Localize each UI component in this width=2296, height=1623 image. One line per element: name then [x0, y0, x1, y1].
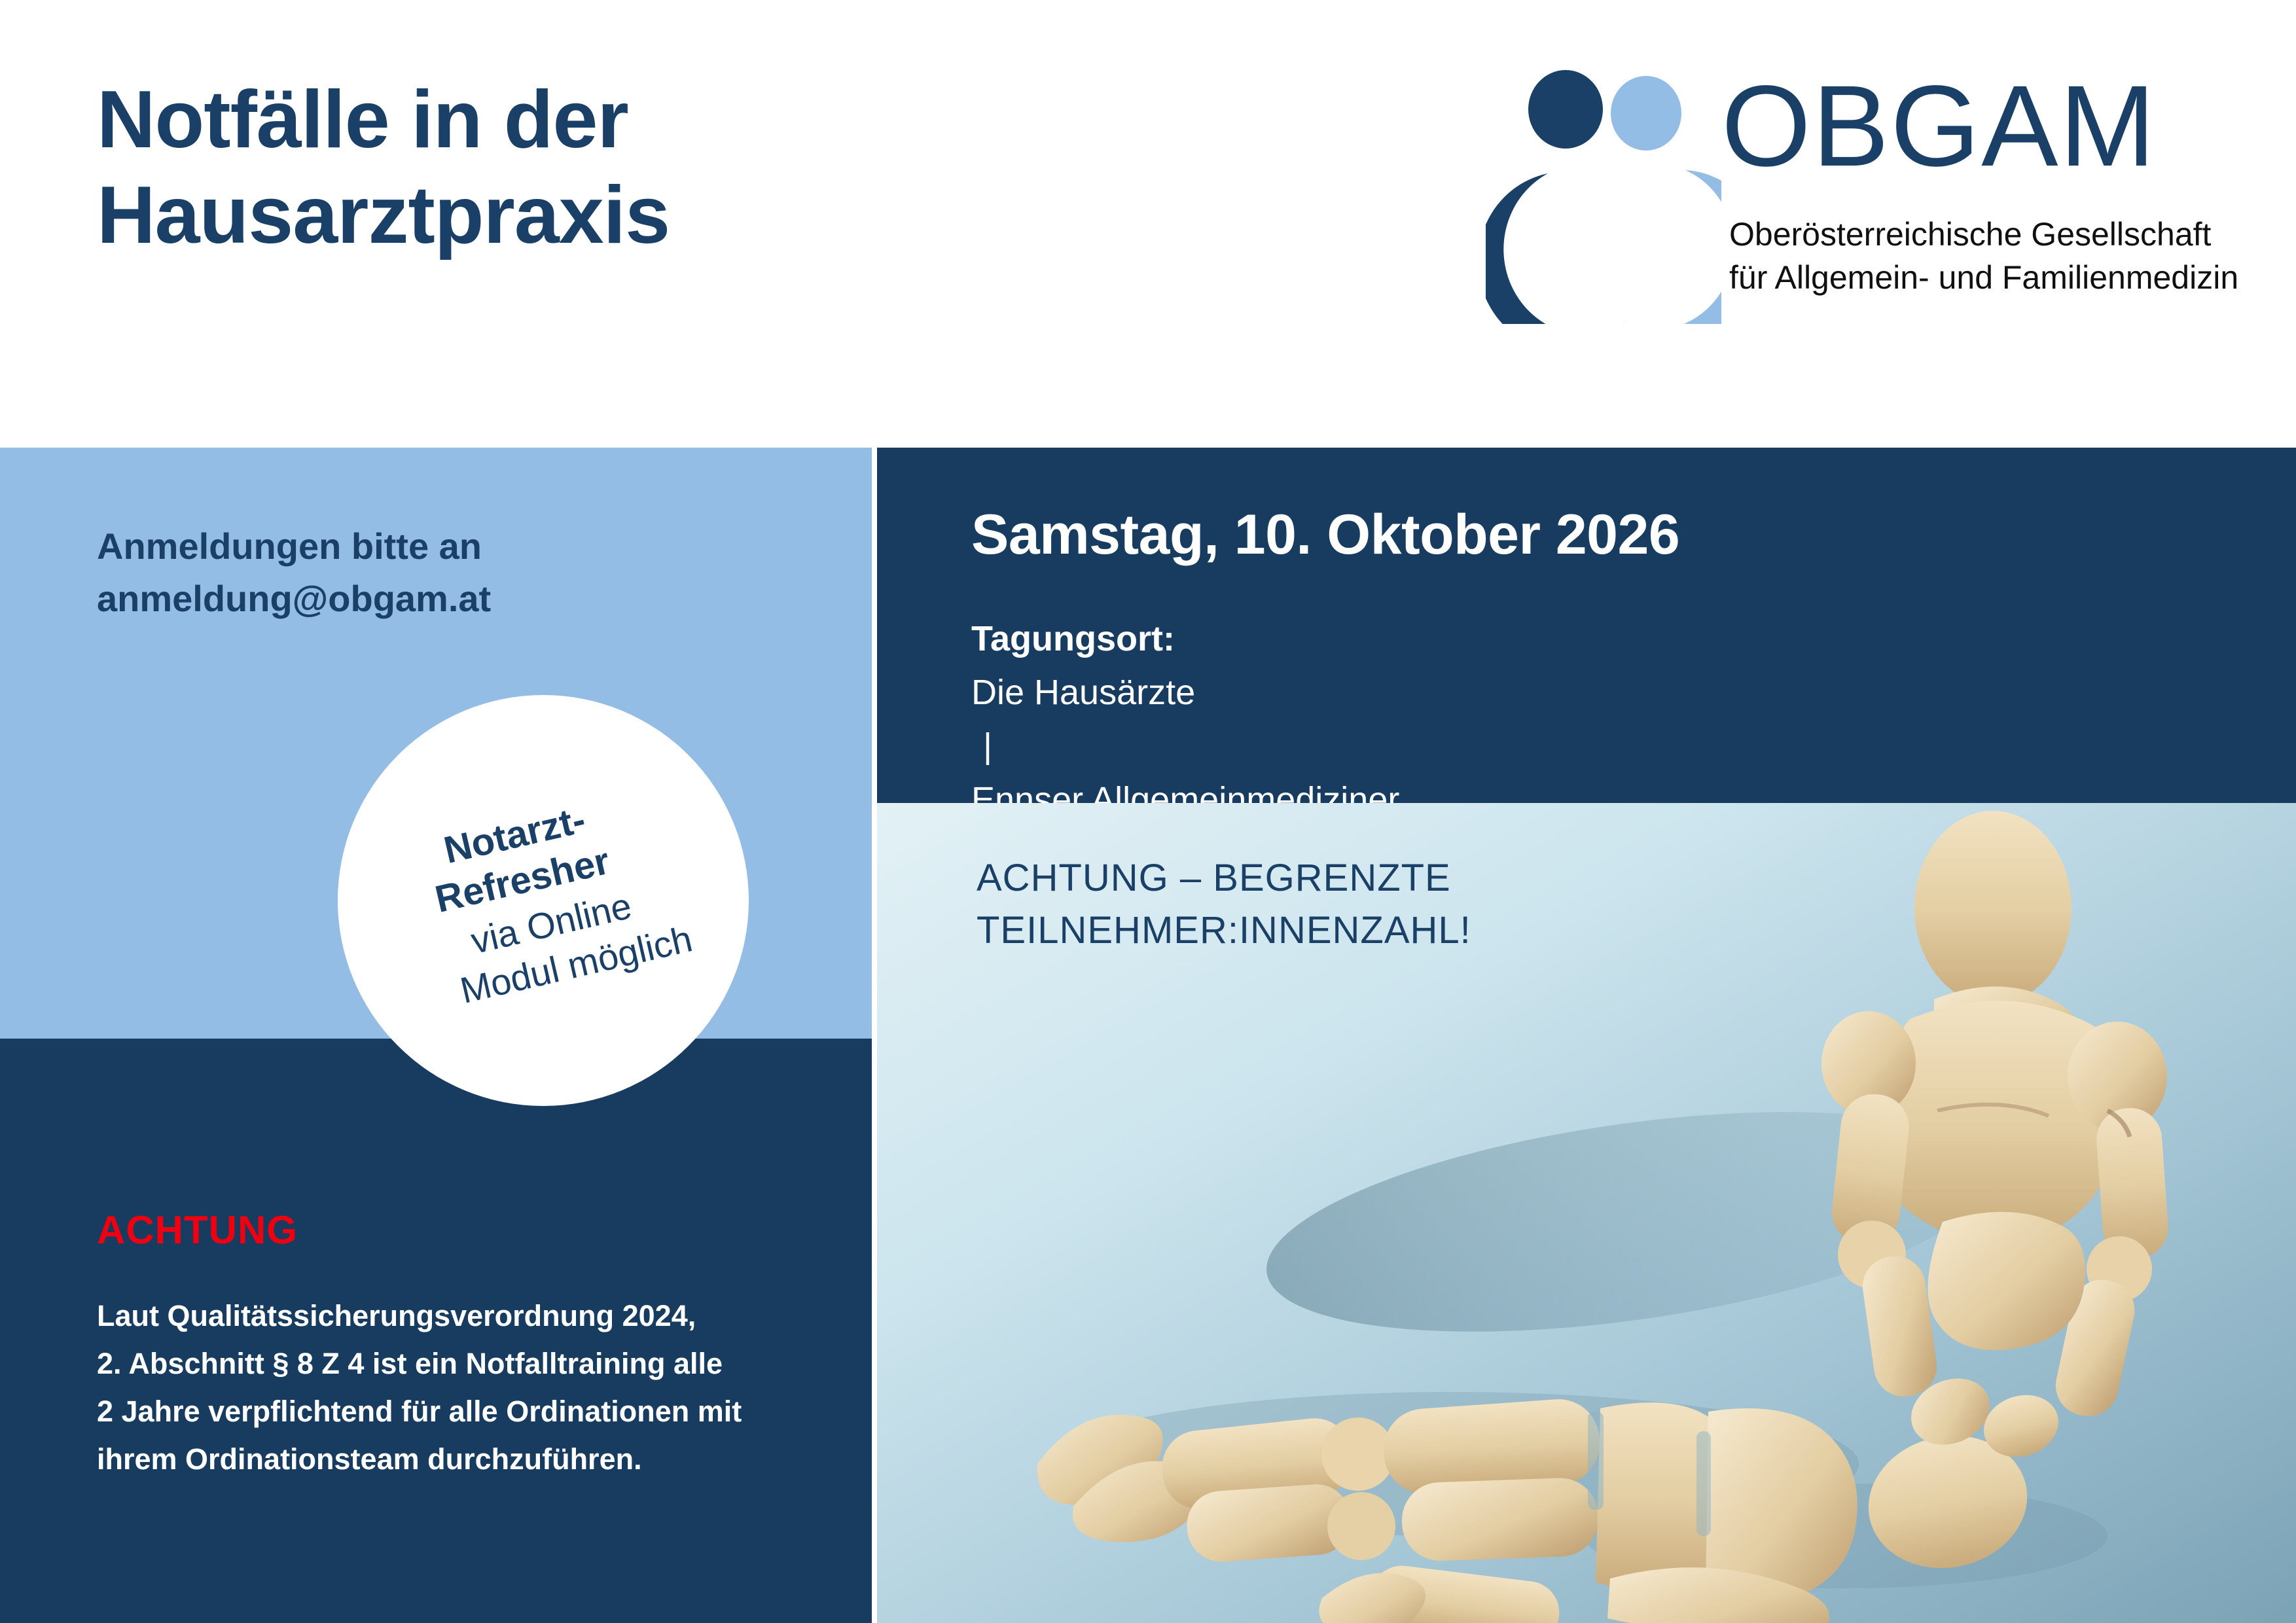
obgam-logo: OBGAM Oberösterreichische Gesellschaft f…	[1486, 62, 2258, 324]
notarzt-refresher-badge: Notarzt- Refresher via Online Modul mögl…	[338, 695, 749, 1106]
registration-email[interactable]: anmeldung@obgam.at	[97, 573, 817, 625]
logo-subtitle: Oberösterreichische Gesellschaft für All…	[1729, 213, 2238, 299]
poster-header: Notfälle in der Hausarztpraxis OBGAM Obe…	[0, 0, 2296, 448]
title-line-1: Notfälle in der	[97, 75, 628, 165]
venue-name: Die Hausärzte	[971, 666, 2215, 719]
title-line-2: Hausarztpraxis	[97, 168, 1013, 263]
logo-subtitle-line-1: Oberösterreichische Gesellschaft	[1729, 213, 2238, 256]
notice-body-line-2: 2. Abschnitt § 8 Z 4 ist ein Notfalltrai…	[97, 1340, 823, 1388]
logo-wordmark: OBGAM	[1721, 69, 2157, 184]
page-title: Notfälle in der Hausarztpraxis	[97, 72, 1013, 264]
notice-body-line-3: 2 Jahre verpflichtend für alle Ordinatio…	[97, 1388, 823, 1436]
notice-body-line-1: Laut Qualitätssicherungsverordnung 2024,	[97, 1293, 823, 1340]
event-poster: Notfälle in der Hausarztpraxis OBGAM Obe…	[0, 0, 2296, 1623]
obgam-figure-logo-icon	[1486, 62, 1721, 324]
venue-label: Tagungsort:	[971, 619, 1175, 658]
notice-body: Laut Qualitätssicherungsverordnung 2024,…	[97, 1293, 823, 1484]
notice-heading: ACHTUNG	[97, 1207, 298, 1253]
cpr-mannequin-photo: ACHTUNG – BEGRENZTE TEILNEHMER:INNENZAHL…	[877, 803, 2296, 1623]
venue-line-1: Tagungsort: Die Hausärzte|Ennser Allgeme…	[971, 612, 2215, 827]
registration-block: Anmeldungen bitte an anmeldung@obgam.at	[97, 520, 817, 624]
registration-line-1: Anmeldungen bitte an	[97, 520, 817, 573]
photo-caption-line-2: TEILNEHMER:INNENZAHL!	[977, 904, 1471, 957]
event-date: Samstag, 10. Oktober 2026	[971, 504, 1679, 566]
logo-subtitle-line-2: für Allgemein- und Familienmedizin	[1729, 256, 2238, 299]
notice-body-line-4: ihrem Ordinationsteam durchzuführen.	[97, 1436, 823, 1484]
photo-caption-line-1: ACHTUNG – BEGRENZTE	[977, 852, 1471, 904]
venue-separator-1: |	[971, 719, 2215, 773]
photo-caption: ACHTUNG – BEGRENZTE TEILNEHMER:INNENZAHL…	[977, 852, 1471, 957]
